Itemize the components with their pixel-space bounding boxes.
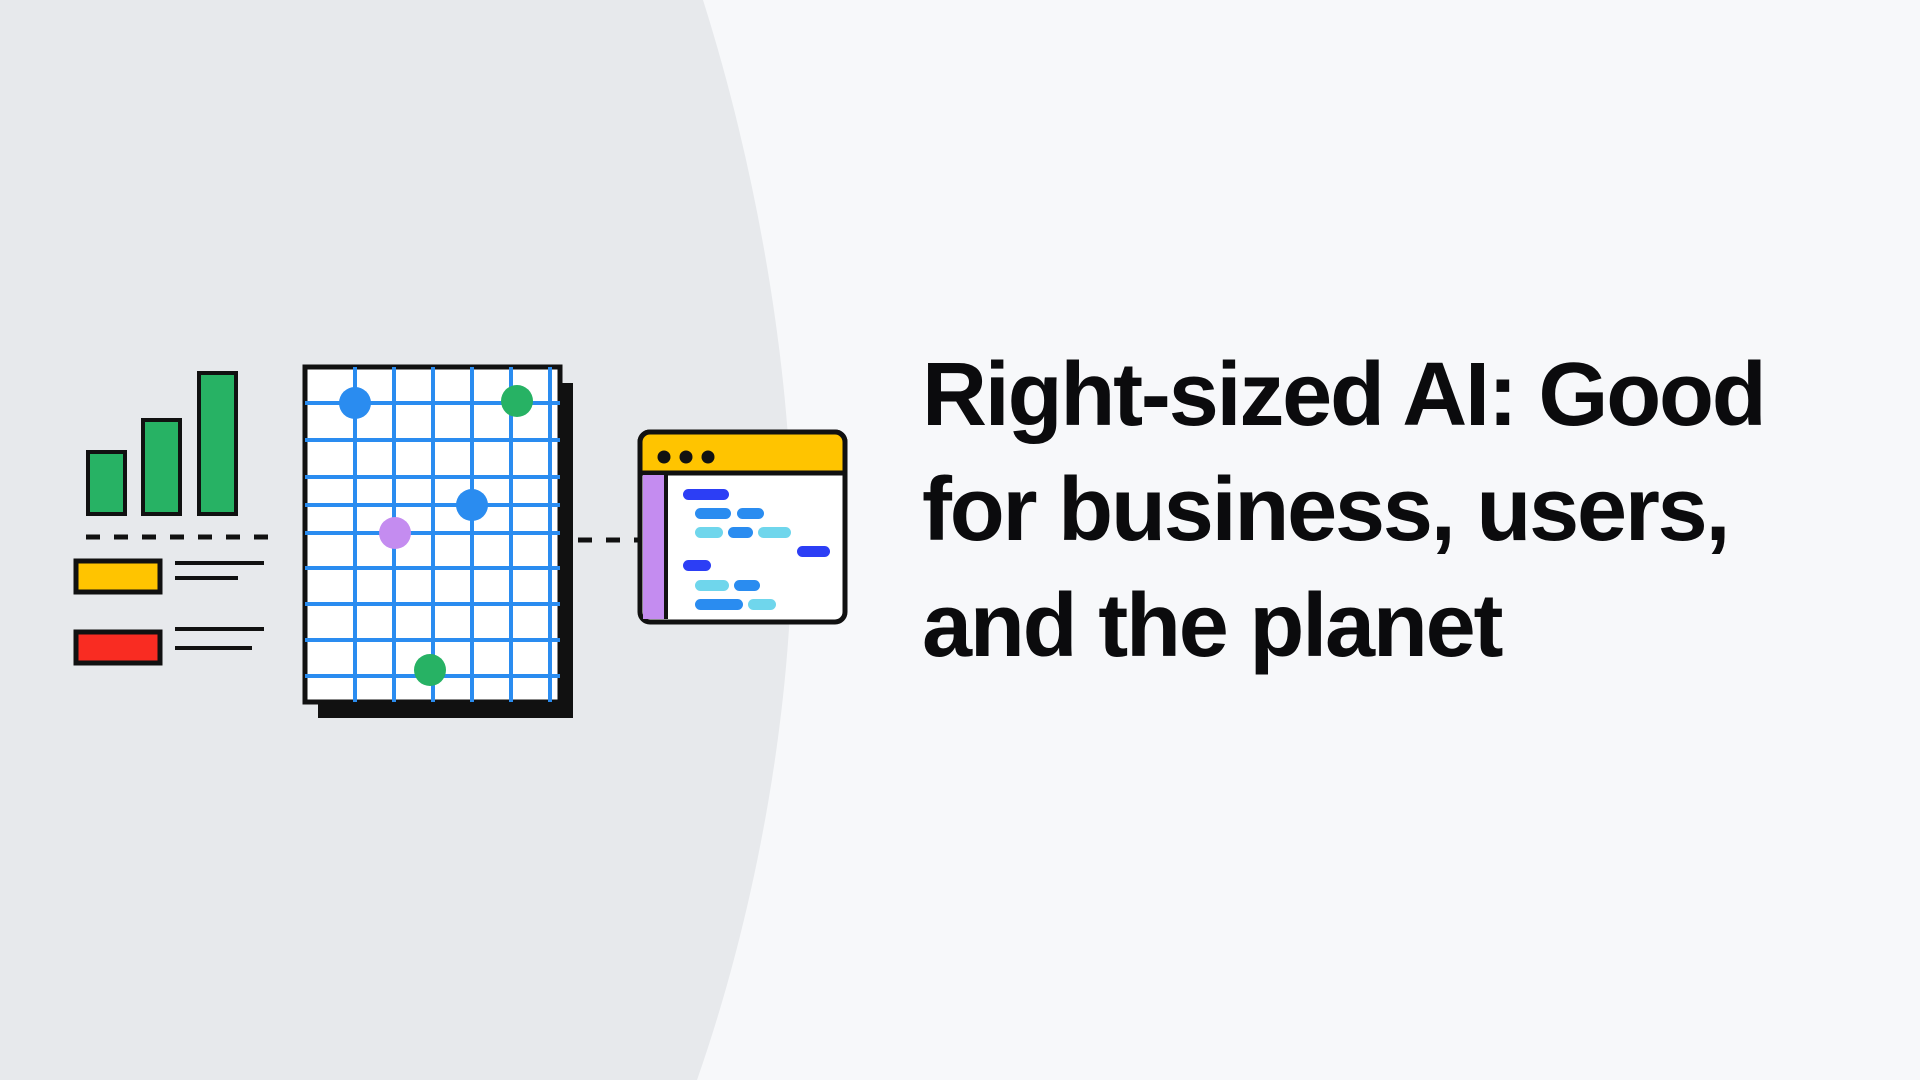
page-title: Right-sized AI: Good for business, users…: [922, 338, 1802, 684]
point-purple-1: [379, 517, 411, 549]
hero-illustration: [0, 0, 900, 1080]
code-pill: [695, 599, 743, 610]
code-editor-window: [640, 432, 845, 622]
bar-2: [143, 420, 180, 514]
code-pill: [683, 560, 711, 571]
code-pill: [695, 580, 729, 591]
bar-1: [88, 452, 125, 514]
code-pill: [734, 580, 760, 591]
page-root: Right-sized AI: Good for business, users…: [0, 0, 1920, 1080]
legend-swatch-red: [76, 632, 160, 663]
code-pill: [797, 546, 830, 557]
code-pill: [695, 527, 723, 538]
code-window-titlebar: [640, 432, 845, 473]
code-window-sidebar: [643, 475, 665, 619]
window-dot-2: [680, 451, 693, 464]
window-dot-1: [658, 451, 671, 464]
point-green-1: [501, 385, 533, 417]
legend-swatch-yellow: [76, 561, 160, 592]
code-pill: [748, 599, 776, 610]
code-pill: [737, 508, 764, 519]
code-pill: [683, 489, 729, 500]
scatter-grid-panel: [305, 367, 573, 718]
code-pill: [728, 527, 753, 538]
legend-row-yellow: [76, 561, 264, 592]
bar-3: [199, 373, 236, 514]
legend-row-red: [76, 629, 264, 663]
window-dot-3: [702, 451, 715, 464]
growth-bar-chart: [88, 373, 236, 514]
point-green-2: [414, 654, 446, 686]
code-pill: [695, 508, 731, 519]
code-pill: [758, 527, 791, 538]
point-blue-2: [456, 489, 488, 521]
point-blue-1: [339, 387, 371, 419]
